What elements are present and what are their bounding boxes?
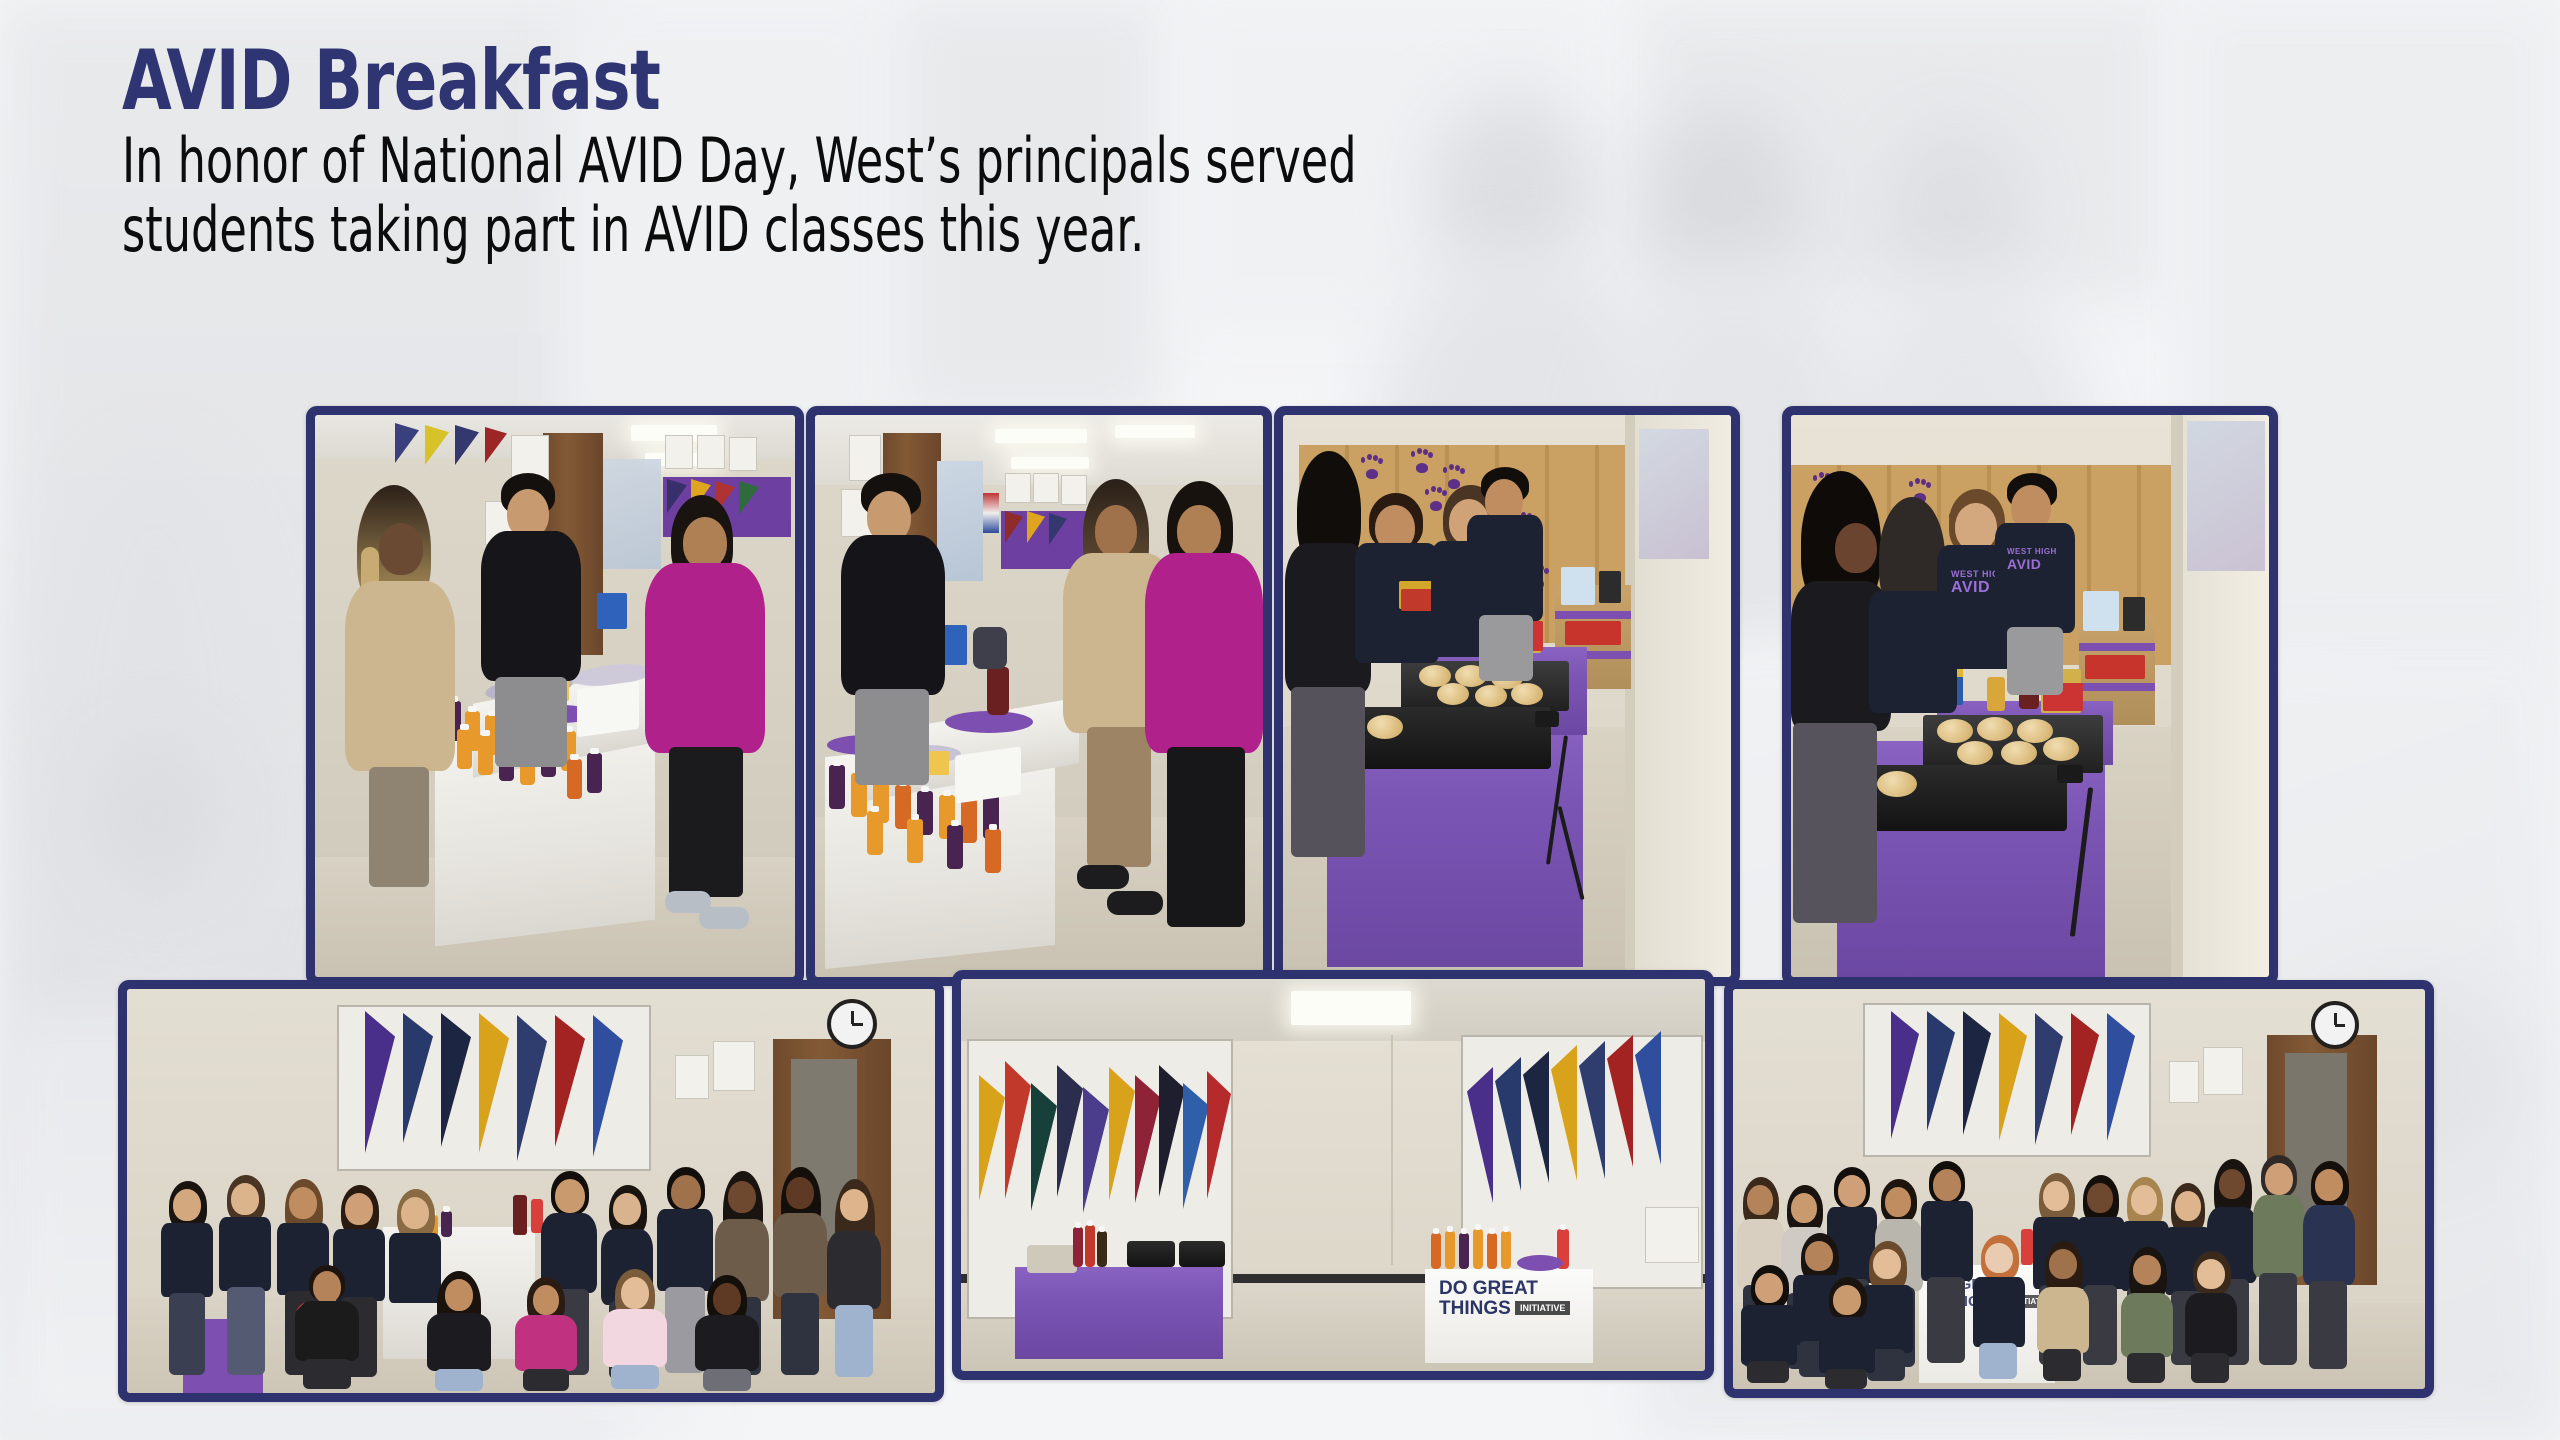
photo-frame-7[interactable]: DO GREAT THINGS INITIATIVE xyxy=(1724,980,2434,1398)
page-subtitle: In honor of National AVID Day, West’s pr… xyxy=(122,127,1482,263)
table-banner-line2: THINGS xyxy=(1439,1299,1511,1318)
photo-5-image xyxy=(127,989,935,1393)
photo-frame-3[interactable] xyxy=(1274,406,1740,986)
photo-frame-6[interactable]: DO GREAT THINGS INITIATIVE xyxy=(952,970,1714,1380)
header: AVID Breakfast In honor of National AVID… xyxy=(122,40,2502,264)
photo-frame-1[interactable] xyxy=(306,406,804,986)
table-banner-chip: INITIATIVE xyxy=(1515,1301,1570,1315)
table-banner-line1: DO GREAT xyxy=(1439,1279,1538,1298)
photo-frame-5[interactable] xyxy=(118,980,944,1402)
page-title: AVID Breakfast xyxy=(122,40,2169,121)
photo-frame-2[interactable] xyxy=(806,406,1272,986)
photo-frame-4[interactable]: WEST HIGH AVID WEST HIGH AVID xyxy=(1782,406,2278,986)
photo-2-image xyxy=(815,415,1263,977)
photo-4-image: WEST HIGH AVID WEST HIGH AVID xyxy=(1791,415,2269,977)
photo-7-image: DO GREAT THINGS INITIATIVE xyxy=(1733,989,2425,1389)
photo-6-image: DO GREAT THINGS INITIATIVE xyxy=(961,979,1705,1371)
photo-1-image xyxy=(315,415,795,977)
photo-3-image xyxy=(1283,415,1731,977)
